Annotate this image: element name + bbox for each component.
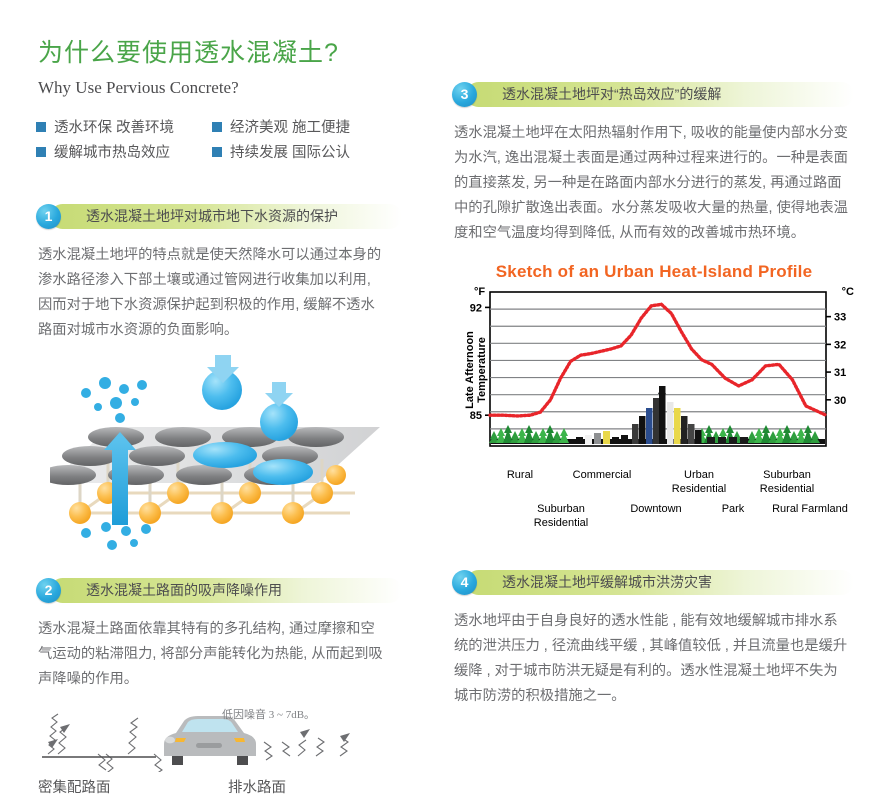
svg-text:85: 85 bbox=[470, 410, 482, 422]
section-title: 透水混凝土地坪对城市地下水资源的保护 bbox=[86, 204, 338, 229]
section-number-badge: 1 bbox=[36, 204, 61, 229]
list-item: 持续发展 国际公认 bbox=[212, 139, 388, 164]
infiltration-illustration bbox=[50, 355, 380, 560]
noise-label-right: 排水路面 bbox=[228, 776, 286, 797]
section-4-header: 4 透水混凝土地坪缓解城市洪涝灾害 bbox=[452, 570, 856, 595]
x-tick-label: Rural bbox=[480, 468, 560, 482]
section-number-badge: 3 bbox=[452, 82, 477, 107]
noise-diagram-svg bbox=[36, 702, 396, 772]
section-number-badge: 2 bbox=[36, 578, 61, 603]
section-2-body: 透水混凝土路面依靠其特有的多孔结构, 通过摩擦和空气运动的粘滞阻力, 将部分声能… bbox=[38, 617, 386, 692]
list-item: 经济美观 施工便捷 bbox=[212, 114, 388, 139]
section-4: 4 透水混凝土地坪缓解城市洪涝灾害 透水地坪由于自身良好的透水性能 , 能有效地… bbox=[452, 570, 856, 709]
noise-reduction-diagram: 低因噪音 3 ~ 7dB。 密集配路面 排水路面 bbox=[36, 702, 396, 798]
section-1-header: 1 透水混凝土地坪对城市地下水资源的保护 bbox=[36, 204, 408, 229]
list-item: 缓解城市热岛效应 bbox=[36, 139, 212, 164]
section-3: 3 透水混凝土地坪对“热岛效应”的缓解 透水混凝土地坪在太阳热辐射作用下, 吸收… bbox=[452, 82, 856, 246]
section-title: 透水混凝土地坪对“热岛效应”的缓解 bbox=[502, 82, 721, 107]
noise-label-left: 密集配路面 bbox=[38, 776, 111, 797]
section-4-body: 透水地坪由于自身良好的透水性能 , 能有效地缓解城市排水系统的泄洪压力 , 径流… bbox=[454, 609, 850, 709]
page-title-en: Why Use Pervious Concrete? bbox=[38, 78, 408, 98]
square-bullet-icon bbox=[36, 147, 46, 157]
section-number-badge: 4 bbox=[452, 570, 477, 595]
section-title: 透水混凝土路面的吸声降噪作用 bbox=[86, 578, 282, 603]
section-3-body: 透水混凝土地坪在太阳热辐射作用下, 吸收的能量使内部水分变为水汽, 逸出混凝土表… bbox=[454, 121, 852, 246]
square-bullet-icon bbox=[212, 147, 222, 157]
bullet-label: 经济美观 施工便捷 bbox=[230, 116, 350, 137]
section-2: 2 透水混凝土路面的吸声降噪作用 透水混凝土路面依靠其特有的多孔结构, 通过摩擦… bbox=[36, 578, 408, 692]
svg-text:92: 92 bbox=[470, 302, 482, 314]
noise-reduction-caption: 低因噪音 3 ~ 7dB。 bbox=[222, 706, 315, 722]
x-tick-label: Urban Residential bbox=[662, 468, 736, 496]
square-bullet-icon bbox=[212, 122, 222, 132]
right-column: 3 透水混凝土地坪对“热岛效应”的缓解 透水混凝土地坪在太阳热辐射作用下, 吸收… bbox=[452, 0, 856, 735]
svg-text:31: 31 bbox=[834, 367, 846, 379]
section-1-body: 透水混凝土地坪的特点就是使天然降水可以通过本身的渗水路径渗入下部土壤或通过管网进… bbox=[38, 243, 388, 343]
bullet-label: 持续发展 国际公认 bbox=[230, 141, 350, 162]
heat-island-chart: Sketch of an Urban Heat-Island Profile °… bbox=[452, 262, 856, 532]
benefit-bullet-list: 透水环保 改善环境 经济美观 施工便捷 缓解城市热岛效应 持续发展 国际公认 bbox=[36, 114, 388, 164]
x-tick-label: Suburban Residential bbox=[744, 468, 830, 496]
section-title: 透水混凝土地坪缓解城市洪涝灾害 bbox=[502, 570, 712, 595]
infiltration-diagram-svg bbox=[50, 355, 380, 560]
svg-text:33: 33 bbox=[834, 312, 846, 324]
x-tick-label: Park bbox=[704, 502, 762, 516]
chart-plot-svg: 928533323130 bbox=[452, 286, 856, 486]
section-2-header: 2 透水混凝土路面的吸声降噪作用 bbox=[36, 578, 408, 603]
bullet-label: 透水环保 改善环境 bbox=[54, 116, 174, 137]
x-tick-label: Suburban Residential bbox=[516, 502, 606, 530]
chart-title: Sketch of an Urban Heat-Island Profile bbox=[452, 262, 856, 282]
square-bullet-icon bbox=[36, 122, 46, 132]
left-column: 为什么要使用透水混凝土? Why Use Pervious Concrete? … bbox=[36, 0, 408, 735]
car-icon bbox=[164, 716, 256, 765]
section-3-header: 3 透水混凝土地坪对“热岛效应”的缓解 bbox=[452, 82, 856, 107]
bullet-label: 缓解城市热岛效应 bbox=[54, 141, 170, 162]
x-tick-label: Downtown bbox=[618, 502, 694, 516]
list-item: 透水环保 改善环境 bbox=[36, 114, 212, 139]
x-tick-label: Commercial bbox=[556, 468, 648, 482]
section-1: 1 透水混凝土地坪对城市地下水资源的保护 透水混凝土地坪的特点就是使天然降水可以… bbox=[36, 204, 408, 343]
svg-text:32: 32 bbox=[834, 339, 846, 351]
page-title-cn: 为什么要使用透水混凝土? bbox=[36, 0, 408, 68]
x-tick-label: Rural Farmland bbox=[770, 502, 850, 516]
brochure-page: 为什么要使用透水混凝土? Why Use Pervious Concrete? … bbox=[0, 0, 877, 735]
svg-text:30: 30 bbox=[834, 395, 846, 407]
